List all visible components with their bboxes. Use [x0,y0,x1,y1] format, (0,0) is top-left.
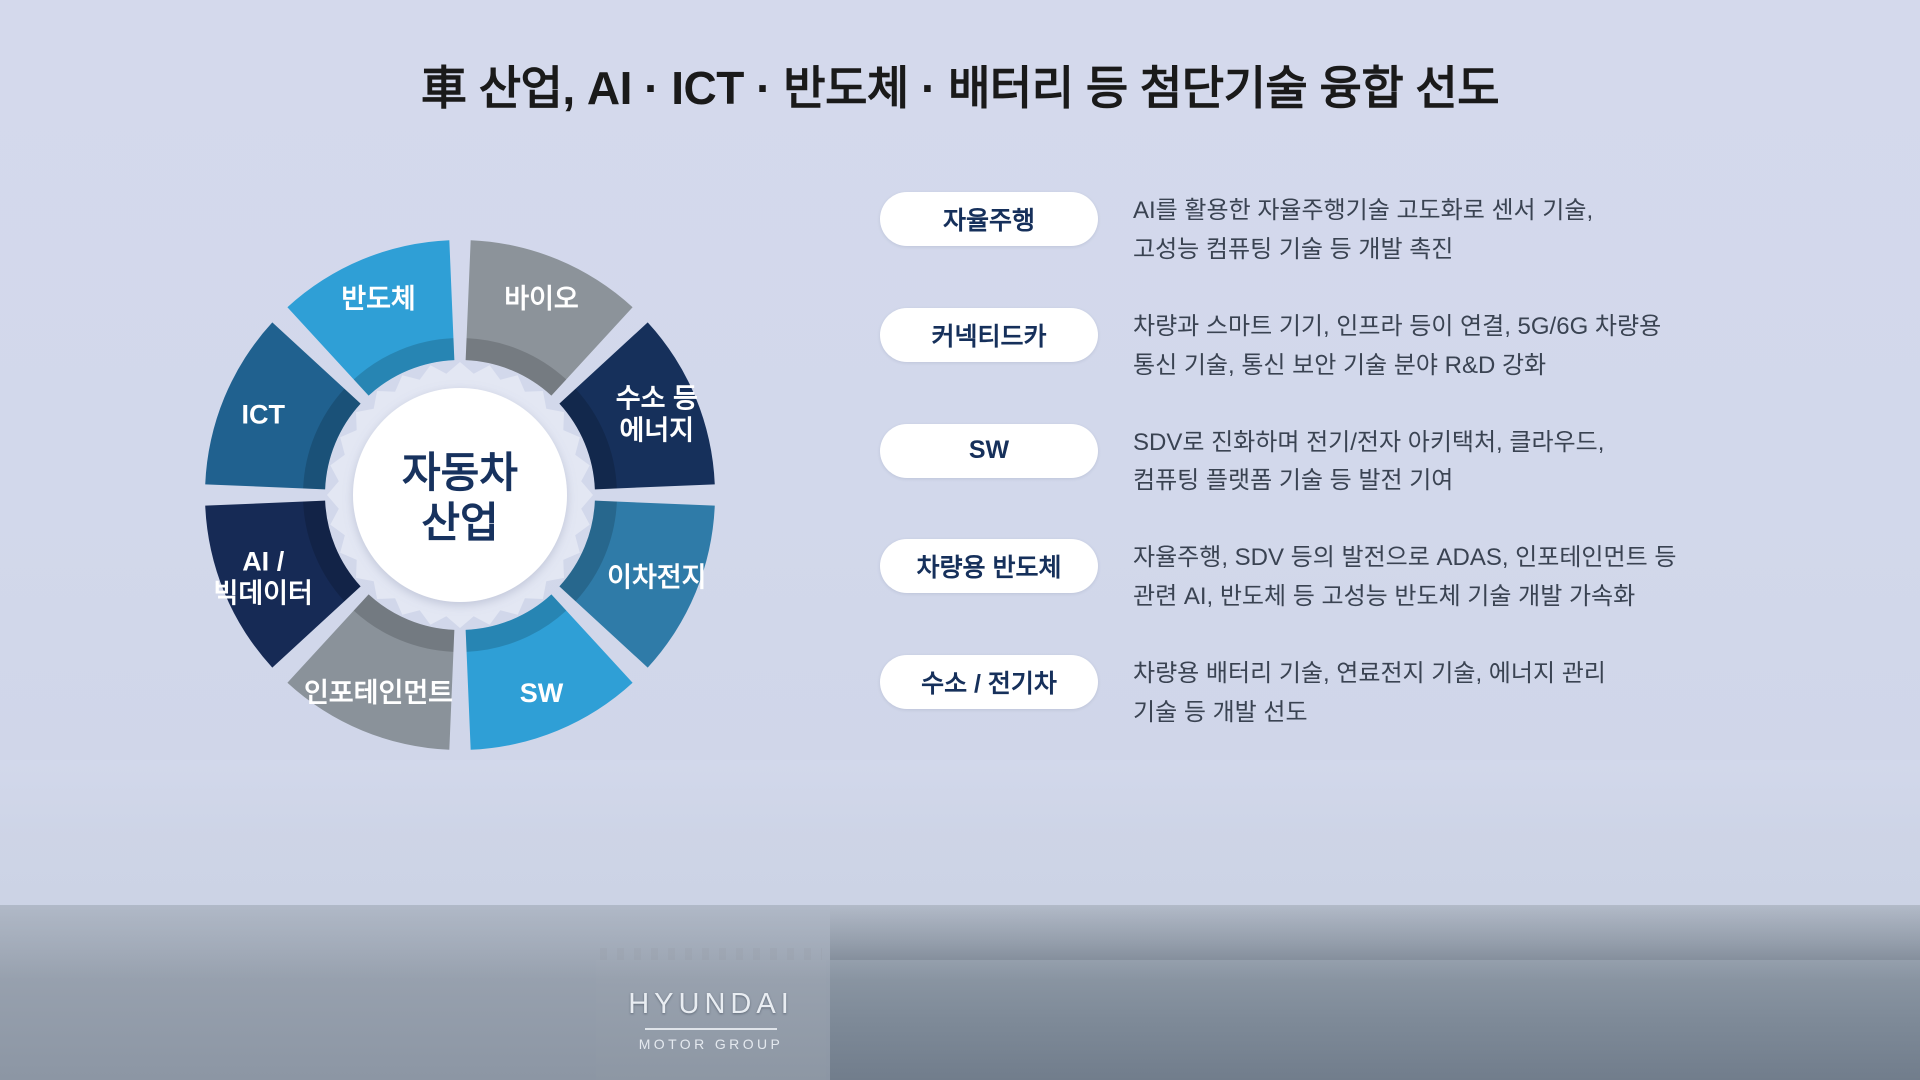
donut-segment-label-6: 빅데이터 [214,579,313,609]
donut-svg: 자동차 산업 바이오수소 등에너지이차전지SW인포테인먼트AI /빅데이터ICT… [130,165,790,825]
hub-label-line1: 자동차 [402,449,518,496]
donut-segment-label-2: 수소 등 [616,384,698,414]
tech-pill-1[interactable]: 자율주행 [880,192,1098,246]
donut-segment-label-5: 인포테인먼트 [304,678,453,708]
tech-description-line: 차량용 배터리 기술, 연료전지 기술, 에너지 관리 [1133,655,1606,694]
donut-segment-label-1: 바이오 [504,284,579,314]
tech-description-line: AI를 활용한 자율주행기술 고도화로 센서 기술, [1133,192,1593,231]
tech-pill-3[interactable]: SW [880,424,1098,478]
tech-description-2: 차량과 스마트 기기, 인프라 등이 연결, 5G/6G 차량용통신 기술, 통… [1133,306,1661,386]
page-title: 車 산업, AI · ICT · 반도체 · 배터리 등 첨단기술 융합 선도 [0,52,1920,118]
tech-description-line: 고성능 컴퓨팅 기술 등 개발 촉진 [1133,231,1593,270]
tech-description-line: 차량과 스마트 기기, 인프라 등이 연결, 5G/6G 차량용 [1133,308,1661,347]
technology-detail-list: 자율주행AI를 활용한 자율주행기술 고도화로 센서 기술,고성능 컴퓨팅 기술… [880,190,1880,769]
donut-segment-label-8: 반도체 [341,284,416,314]
list-item[interactable]: 차량용 반도체자율주행, SDV 등의 발전으로 ADAS, 인포테인먼트 등관… [880,537,1880,617]
list-item[interactable]: 자율주행AI를 활용한 자율주행기술 고도화로 센서 기술,고성능 컴퓨팅 기술… [880,190,1880,270]
tech-pill-4[interactable]: 차량용 반도체 [880,539,1098,593]
hyundai-wordmark: HYUNDAI [628,988,794,1021]
tech-description-1: AI를 활용한 자율주행기술 고도화로 센서 기술,고성능 컴퓨팅 기술 등 개… [1133,190,1593,270]
donut-segment-label-7: ICT [241,400,285,430]
list-item[interactable]: SWSDV로 진화하며 전기/전자 아키택처, 클라우드,컴퓨팅 플랫폼 기술 … [880,422,1880,502]
tech-description-5: 차량용 배터리 기술, 연료전지 기술, 에너지 관리기술 등 개발 선도 [1133,653,1606,733]
hub-label-line2: 산업 [421,499,498,546]
tech-description-line: 관련 AI, 반도체 등 고성능 반도체 기술 개발 가속화 [1133,578,1676,617]
donut-segment-label-3: 이차전지 [607,563,706,593]
list-item[interactable]: 수소 / 전기차차량용 배터리 기술, 연료전지 기술, 에너지 관리기술 등 … [880,653,1880,733]
donut-segment-label-2: 에너지 [620,416,695,446]
tech-pill-5[interactable]: 수소 / 전기차 [880,655,1098,709]
tech-description-3: SDV로 진화하며 전기/전자 아키택처, 클라우드,컴퓨팅 플랫폼 기술 등 … [1133,422,1604,502]
tech-description-line: SDV로 진화하며 전기/전자 아키택처, 클라우드, [1133,424,1604,463]
tech-description-line: 자율주행, SDV 등의 발전으로 ADAS, 인포테인먼트 등 [1133,539,1676,578]
motor-group-subtext: MOTOR GROUP [639,1036,783,1052]
tech-pill-2[interactable]: 커넥티드카 [880,308,1098,362]
tech-description-4: 자율주행, SDV 등의 발전으로 ADAS, 인포테인먼트 등관련 AI, 반… [1133,537,1676,617]
technology-convergence-donut-chart: 자동차 산업 바이오수소 등에너지이차전지SW인포테인먼트AI /빅데이터ICT… [130,165,790,825]
tech-description-line: 컴퓨팅 플랫폼 기술 등 발전 기여 [1133,462,1604,501]
tech-description-line: 기술 등 개발 선도 [1133,694,1606,733]
list-item[interactable]: 커넥티드카차량과 스마트 기기, 인프라 등이 연결, 5G/6G 차량용통신 … [880,306,1880,386]
logo-divider [645,1028,777,1030]
tech-description-line: 통신 기술, 통신 보안 기술 분야 R&D 강화 [1133,347,1661,386]
donut-segment-label-6: AI / [242,547,285,577]
donut-segment-label-4: SW [520,678,564,708]
